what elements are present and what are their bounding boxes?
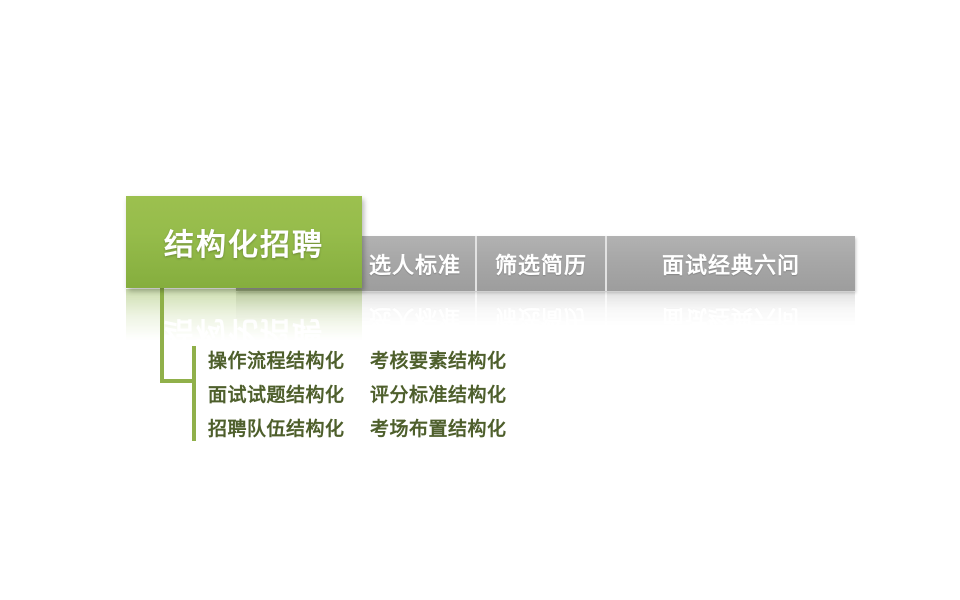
connector-horizontal (160, 379, 196, 383)
list-item: 招聘队伍结构化 (208, 413, 370, 447)
list-item: 操作流程结构化 (208, 345, 370, 379)
slide-canvas: 选人标准 筛选简历 面试经典六问 选人标准 筛选简历 面试经典六问 结构化招聘 … (0, 0, 960, 600)
tab-mianshijingdianliuwen[interactable]: 面试经典六问 (605, 236, 855, 291)
list-item: 评分标准结构化 (370, 379, 530, 413)
content-item-grid: 操作流程结构化 面试试题结构化 招聘队伍结构化 考核要素结构化 评分标准结构化 … (208, 345, 530, 447)
tab-label: 筛选简历 (495, 248, 587, 280)
connector-vertical-lower (192, 346, 196, 441)
tab-reflection-label: 筛选简历 (495, 304, 587, 336)
list-item: 考场布置结构化 (370, 413, 530, 447)
tab-label: 选人标准 (369, 248, 461, 280)
active-tab-label: 结构化招聘 (164, 220, 324, 264)
item-column-right: 考核要素结构化 评分标准结构化 考场布置结构化 (370, 345, 530, 447)
tab-shaixuanjianli[interactable]: 筛选简历 (475, 236, 605, 291)
tab-label: 面试经典六问 (662, 248, 800, 280)
tab-reflection-label: 面试经典六问 (662, 304, 800, 336)
connector-vertical-upper (160, 286, 164, 383)
active-tab-jiegouhuazhaopin[interactable]: 结构化招聘 (126, 196, 362, 288)
active-tab-reflection-label: 结构化招聘 (164, 313, 324, 349)
item-column-left: 操作流程结构化 面试试题结构化 招聘队伍结构化 (208, 345, 370, 447)
list-item: 面试试题结构化 (208, 379, 370, 413)
tab-reflection-label: 选人标准 (369, 304, 461, 336)
tab-bar-reflection: 选人标准 筛选简历 面试经典六问 (236, 292, 855, 338)
list-item: 考核要素结构化 (370, 345, 530, 379)
